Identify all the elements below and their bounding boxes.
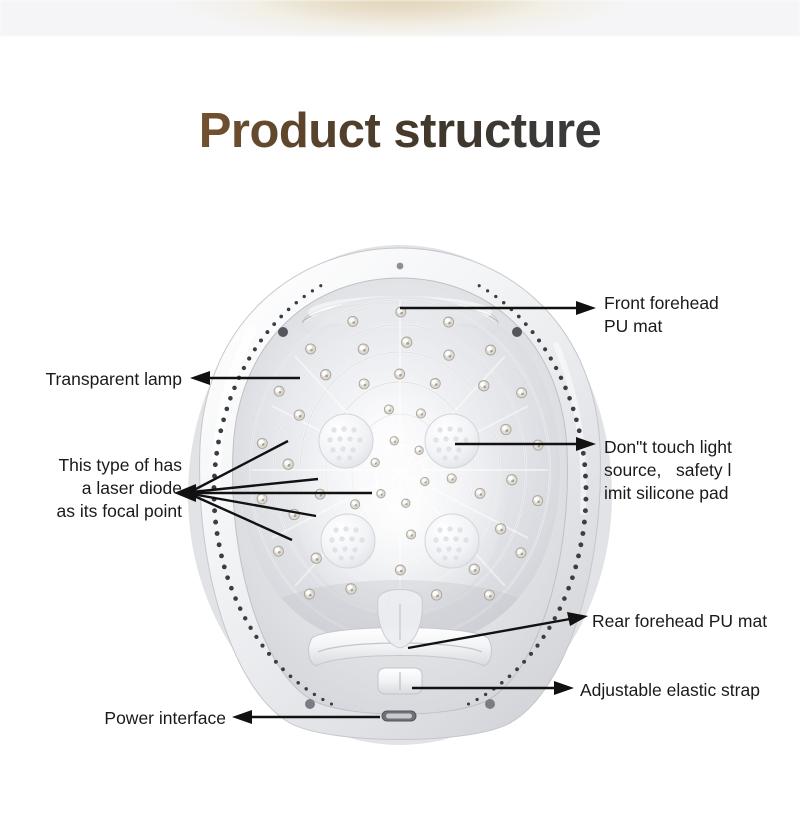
callout-adjustable-elastic-strap: Adjustable elastic strap xyxy=(580,679,760,702)
silicone-pad xyxy=(425,414,479,468)
callout-line: Power interface xyxy=(104,708,226,728)
vent-hole xyxy=(253,347,257,351)
laser-diode-node xyxy=(377,490,385,498)
vent-hole xyxy=(574,417,579,422)
vent-hole xyxy=(221,417,226,422)
callout-line: This type of has xyxy=(58,455,182,475)
laser-diode-node xyxy=(533,496,543,506)
laser-diode-node xyxy=(257,494,267,504)
vent-hole xyxy=(217,542,222,547)
vent-hole xyxy=(535,644,539,648)
laser-diode-node xyxy=(371,458,379,466)
vent-hole xyxy=(524,322,528,326)
vent-hole xyxy=(522,660,526,664)
laser-diode-node xyxy=(395,565,405,575)
shell-hole-right xyxy=(485,699,495,709)
laser-diode-node xyxy=(294,410,304,420)
vent-hole xyxy=(549,356,553,360)
laser-diode-node xyxy=(486,345,496,355)
vent-hole xyxy=(582,520,587,525)
vent-hole xyxy=(580,531,585,536)
vent-hole xyxy=(303,295,306,298)
vent-hole xyxy=(248,626,252,630)
vent-hole xyxy=(562,596,567,601)
laser-diode-node xyxy=(359,379,369,389)
vent-hole-large-left xyxy=(278,327,288,337)
vent-hole xyxy=(478,284,481,287)
vent-hole xyxy=(296,681,300,685)
vent-hole xyxy=(515,667,519,671)
vent-hole-large-right xyxy=(512,327,522,337)
callout-line: Don"t touch light xyxy=(604,437,732,457)
laser-diode-node xyxy=(421,477,429,485)
vent-hole xyxy=(289,674,293,678)
vent-hole xyxy=(566,586,571,591)
vent-hole xyxy=(475,698,478,701)
vent-hole xyxy=(582,462,587,467)
laser-diode-node xyxy=(501,424,511,434)
vent-hole xyxy=(583,497,588,502)
callout-line: source, safety l xyxy=(604,460,731,480)
laser-diode-node xyxy=(507,475,517,485)
vent-hole xyxy=(215,531,220,536)
laser-diode-node xyxy=(257,438,267,448)
vent-hole xyxy=(543,347,547,351)
vent-hole xyxy=(260,644,264,648)
laser-diode-node xyxy=(395,369,405,379)
vent-hole xyxy=(274,660,278,664)
laser-diode-node xyxy=(304,589,314,599)
vent-hole xyxy=(508,674,512,678)
vent-hole xyxy=(559,376,563,380)
vent-hole xyxy=(541,635,545,639)
vent-hole xyxy=(242,366,246,370)
vent-hole xyxy=(228,396,233,401)
vent-hole xyxy=(583,508,588,513)
laser-diode-node xyxy=(358,344,368,354)
callout-line: Front forehead xyxy=(604,293,719,313)
laser-diode-node xyxy=(407,530,416,539)
vent-hole xyxy=(484,693,487,696)
callout-power-interface: Power interface xyxy=(0,707,226,730)
vent-hole xyxy=(583,474,588,479)
vent-hole xyxy=(214,451,219,456)
vent-hole xyxy=(229,586,234,591)
vent-hole xyxy=(584,485,589,490)
vent-hole xyxy=(494,295,497,298)
shell-hole-left xyxy=(305,699,315,709)
laser-diode-node xyxy=(402,337,412,347)
vent-hole xyxy=(502,301,505,304)
laser-diode-node xyxy=(274,386,284,396)
vent-hole xyxy=(247,356,251,360)
vent-hole xyxy=(238,606,243,611)
vent-hole xyxy=(216,440,221,445)
laser-diode-node xyxy=(444,350,454,360)
vent-hole xyxy=(577,428,582,433)
laser-diode-node xyxy=(321,370,331,380)
vent-hole xyxy=(219,554,224,559)
vent-hole xyxy=(330,702,333,705)
vent-hole xyxy=(225,575,230,580)
laser-diode-node xyxy=(311,553,321,563)
vent-hole xyxy=(232,386,237,391)
vent-hole xyxy=(281,667,285,671)
vent-hole xyxy=(311,289,314,292)
callout-dont-touch-light-source: Don"t touch lightsource, safety limit si… xyxy=(604,436,732,505)
vent-hole xyxy=(553,616,557,620)
laser-diode-node xyxy=(479,381,489,391)
vent-hole xyxy=(233,596,238,601)
silicone-pad xyxy=(321,514,375,568)
laser-diode-node xyxy=(402,499,410,507)
vent-hole xyxy=(563,386,568,391)
laser-diode-node xyxy=(283,459,293,469)
vent-hole xyxy=(321,698,324,701)
vent-hole xyxy=(259,338,263,342)
vent-hole xyxy=(267,652,271,656)
laser-diode-node xyxy=(517,388,527,398)
vent-hole xyxy=(319,284,322,287)
laser-diode-node xyxy=(384,405,393,414)
vent-hole xyxy=(517,315,521,319)
vent-hole xyxy=(547,626,551,630)
laser-diode-node xyxy=(390,437,398,445)
callout-line: imit silicone pad xyxy=(604,483,729,503)
vent-hole xyxy=(222,565,227,570)
laser-diode-node xyxy=(475,488,485,498)
vent-hole xyxy=(265,330,269,334)
vent-hole xyxy=(467,702,470,705)
vent-hole xyxy=(304,687,307,690)
vent-hole xyxy=(272,322,276,326)
vent-hole xyxy=(212,508,217,513)
laser-diode-node xyxy=(273,546,283,556)
laser-diode-node xyxy=(315,489,325,499)
vent-hole xyxy=(558,606,563,611)
vent-hole xyxy=(295,301,298,304)
vent-hole xyxy=(500,681,504,685)
laser-diode-node xyxy=(351,500,360,509)
callout-transparent-lamp: Transparent lamp xyxy=(0,368,182,391)
callout-rear-forehead-pu-mat: Rear forehead PU mat xyxy=(592,610,767,633)
laser-diode-node xyxy=(447,474,456,483)
callout-front-forehead-pu-mat: Front foreheadPU mat xyxy=(604,292,719,338)
callout-line: Rear forehead PU mat xyxy=(592,611,767,631)
vent-hole xyxy=(254,635,258,639)
silicone-pad xyxy=(425,514,479,568)
vent-hole xyxy=(279,315,283,319)
vent-hole xyxy=(313,693,316,696)
callout-laser-diode-focal-point: This type of hasa laser diodeas its foca… xyxy=(0,454,182,523)
callout-line: as its focal point xyxy=(57,501,182,521)
vent-hole xyxy=(218,428,223,433)
top-vent-hole xyxy=(397,263,404,270)
laser-diode-node xyxy=(431,590,441,600)
laser-diode-node xyxy=(469,564,479,574)
vent-hole xyxy=(571,407,576,412)
adjustable-elastic-strap xyxy=(378,668,422,694)
callout-line: a laser diode xyxy=(82,478,182,498)
laser-diode-node xyxy=(496,524,506,534)
vent-hole xyxy=(529,652,533,656)
vent-hole xyxy=(224,407,229,412)
vent-hole xyxy=(486,289,489,292)
vent-hole xyxy=(581,451,586,456)
vent-hole xyxy=(213,462,218,467)
laser-diode-node xyxy=(346,584,356,594)
vent-hole xyxy=(531,330,535,334)
vent-hole xyxy=(578,542,583,547)
callout-line: PU mat xyxy=(604,316,662,336)
silicone-pad xyxy=(319,414,373,468)
callout-line: Transparent lamp xyxy=(46,369,183,389)
laser-diode-node xyxy=(484,590,494,600)
laser-diode-node xyxy=(306,344,316,354)
callout-line: Adjustable elastic strap xyxy=(580,680,760,700)
laser-diode-node xyxy=(348,316,358,326)
vent-hole xyxy=(243,616,247,620)
laser-diode-node xyxy=(415,446,423,454)
vent-hole xyxy=(554,366,558,370)
vent-hole xyxy=(570,575,575,580)
vent-hole xyxy=(576,554,581,559)
vent-hole xyxy=(573,565,578,570)
vent-hole xyxy=(213,520,218,525)
vent-hole xyxy=(287,308,291,312)
vent-hole xyxy=(537,338,541,342)
laser-diode-node xyxy=(430,379,440,389)
laser-diode-node xyxy=(516,548,526,558)
power-interface-port xyxy=(382,711,416,721)
laser-diode-node xyxy=(416,409,425,418)
laser-diode-node xyxy=(444,317,454,327)
vent-hole xyxy=(567,396,572,401)
